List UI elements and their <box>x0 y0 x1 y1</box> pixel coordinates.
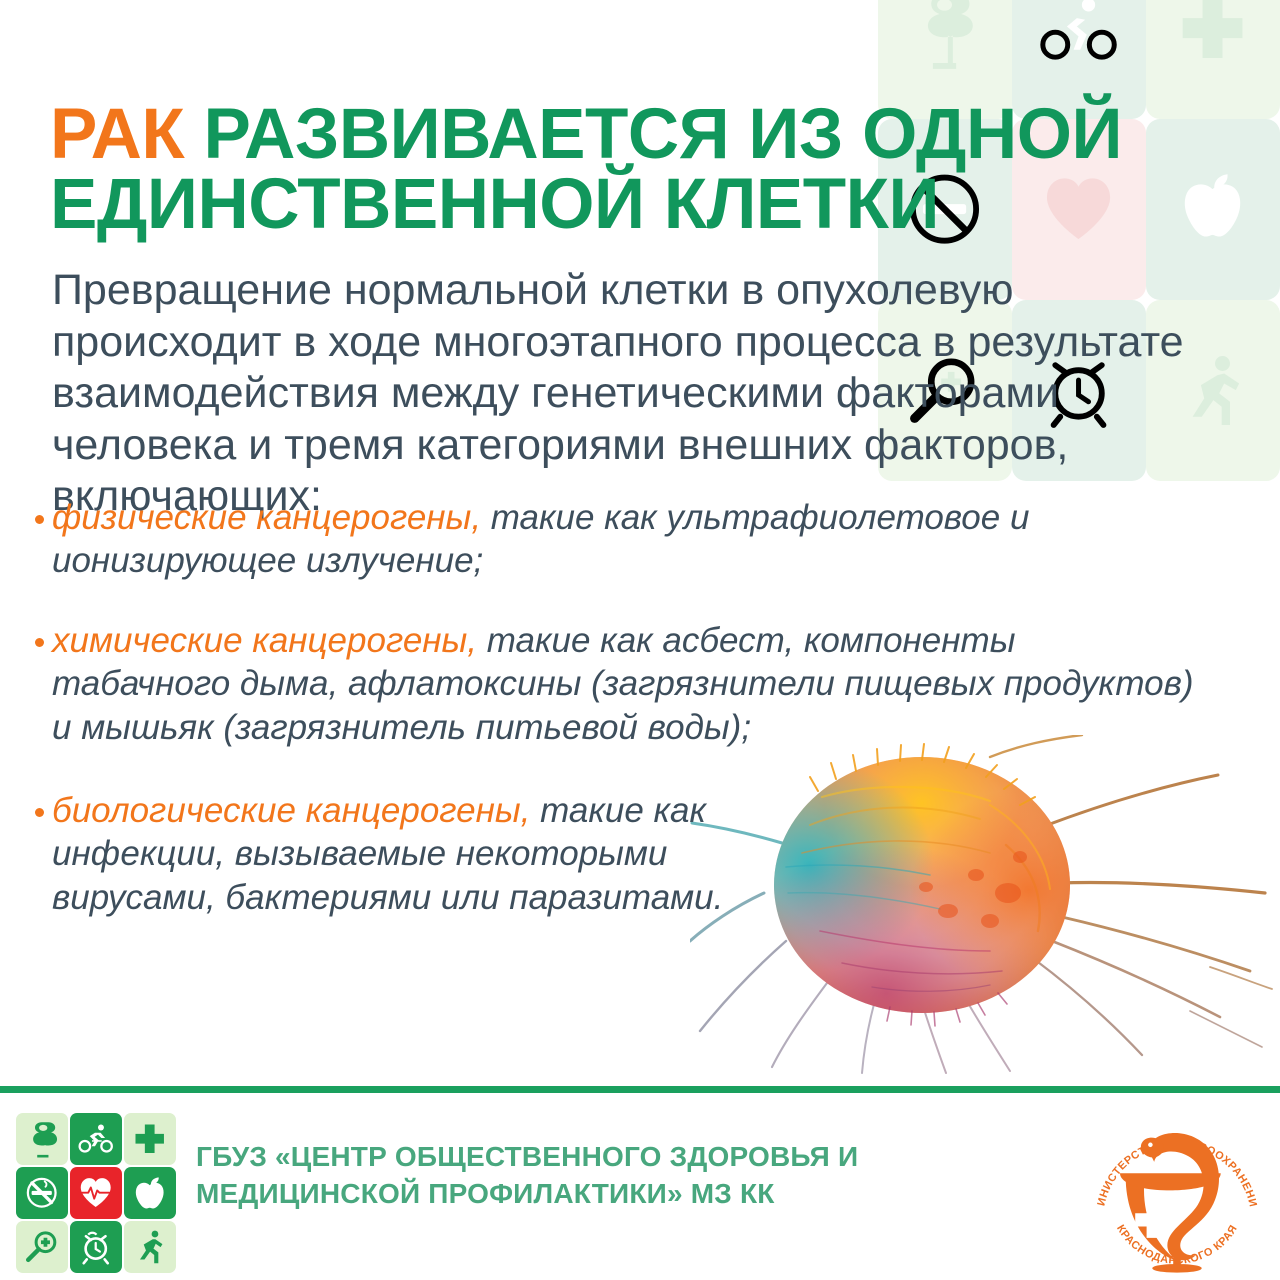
list-item-lead: физические канцерогены, <box>52 498 481 537</box>
cyclist-icon <box>70 1113 122 1165</box>
ministry-of-health-krasnodar-logo: МИНИСТЕРСТВО ЗДРАВООХРАНЕНИЯ КРАСНОДАРСК… <box>1082 1097 1272 1280</box>
list-item-lead: биологические канцерогены, <box>52 791 530 830</box>
alarm-clock-icon <box>70 1221 122 1273</box>
organization-name: ГБУЗ «ЦЕНТР ОБЩЕСТВЕННОГО ЗДОРОВЬЯ И МЕД… <box>196 1139 1026 1213</box>
no-smoking-icon <box>16 1167 68 1219</box>
heart-pulse-icon <box>70 1167 122 1219</box>
magnifier-plus-icon <box>16 1221 68 1273</box>
carcinogen-category-list: физические канцерогены, такие как ультра… <box>26 496 1256 955</box>
ministry-logo-text-top: МИНИСТЕРСТВО ЗДРАВООХРАНЕНИЯ <box>1082 1097 1259 1208</box>
list-item: физические канцерогены, такие как ультра… <box>26 496 1256 583</box>
title-accent-word: РАК <box>50 95 184 174</box>
center-logo-icon-grid <box>16 1113 176 1273</box>
bullet-marker-icon <box>26 515 52 524</box>
svg-text:МИНИСТЕРСТВО ЗДРАВООХРАНЕНИЯ: МИНИСТЕРСТВО ЗДРАВООХРАНЕНИЯ <box>1082 1097 1259 1208</box>
bullet-marker-icon <box>26 638 52 647</box>
intro-paragraph: Превращение нормальной клетки в опухолев… <box>52 265 1237 523</box>
list-item: биологические канцерогены, такие как инф… <box>26 789 1256 919</box>
footer-divider <box>0 1086 1280 1093</box>
title-rest: РАЗВИВАЕТСЯ ИЗ ОДНОЙ ЕДИНСТВЕННОЙ КЛЕТКИ <box>50 95 1122 244</box>
list-item-text: физические канцерогены, такие как ультра… <box>52 496 1202 583</box>
footer: ГБУЗ «ЦЕНТР ОБЩЕСТВЕННОГО ЗДОРОВЬЯ И МЕД… <box>0 1093 1280 1280</box>
list-item-lead: химические канцерогены, <box>52 621 477 660</box>
list-item-text: биологические канцерогены, такие как инф… <box>52 789 752 919</box>
medical-cross-icon <box>124 1113 176 1165</box>
list-item-text: химические канцерогены, такие как асбест… <box>52 619 1202 749</box>
apple-icon <box>124 1167 176 1219</box>
list-item: химические канцерогены, такие как асбест… <box>26 619 1256 749</box>
page-title: РАК РАЗВИВАЕТСЯ ИЗ ОДНОЙ ЕДИНСТВЕННОЙ КЛ… <box>50 100 1250 241</box>
bullet-marker-icon <box>26 808 52 817</box>
runner-icon <box>124 1221 176 1273</box>
bowl-of-hygieia-icon <box>16 1113 68 1165</box>
poster-root: РАК РАЗВИВАЕТСЯ ИЗ ОДНОЙ ЕДИНСТВЕННОЙ КЛ… <box>0 0 1280 1280</box>
